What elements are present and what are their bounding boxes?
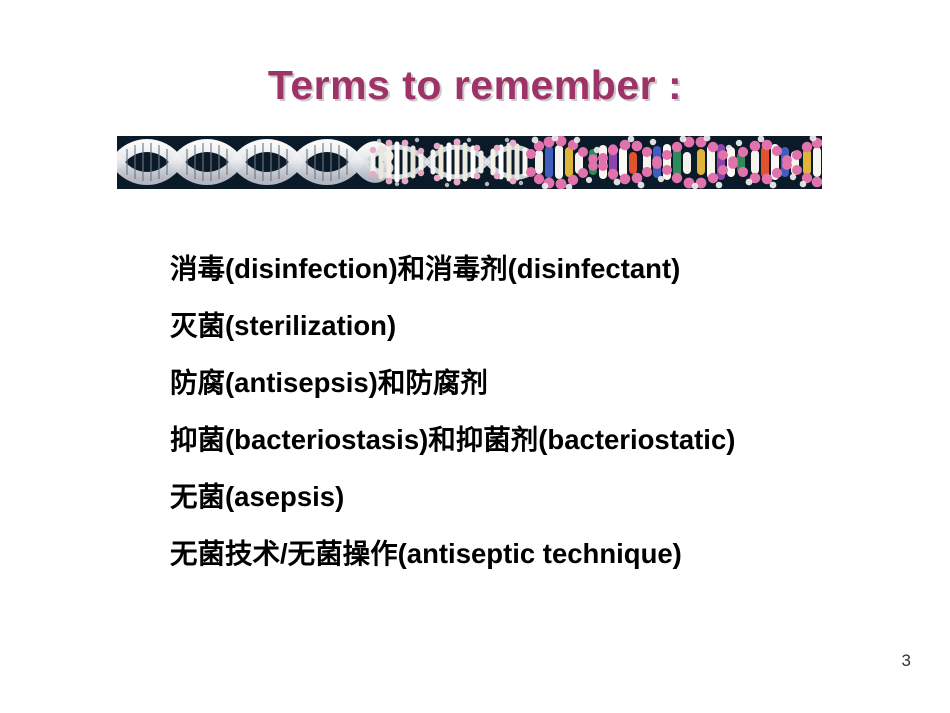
terms-list: 消毒(disinfection)和消毒剂(disinfectant) 灭菌(st… (170, 240, 910, 582)
page-number: 3 (902, 651, 911, 671)
list-item: 消毒(disinfection)和消毒剂(disinfectant) (170, 240, 910, 297)
list-item: 防腐(antisepsis)和防腐剂 (170, 354, 910, 411)
list-item: 抑菌(bacteriostasis)和抑菌剂(bacteriostatic) (170, 411, 910, 468)
list-item: 无菌技术/无菌操作(antiseptic technique) (170, 525, 910, 582)
dna-helix-banner (117, 136, 822, 189)
list-item: 灭菌(sterilization) (170, 297, 910, 354)
page-title: Terms to remember : (0, 62, 950, 109)
list-item: 无菌(asepsis) (170, 468, 910, 525)
presentation-slide: Terms to remember : (0, 0, 950, 713)
dna-helix-icon (117, 136, 822, 189)
